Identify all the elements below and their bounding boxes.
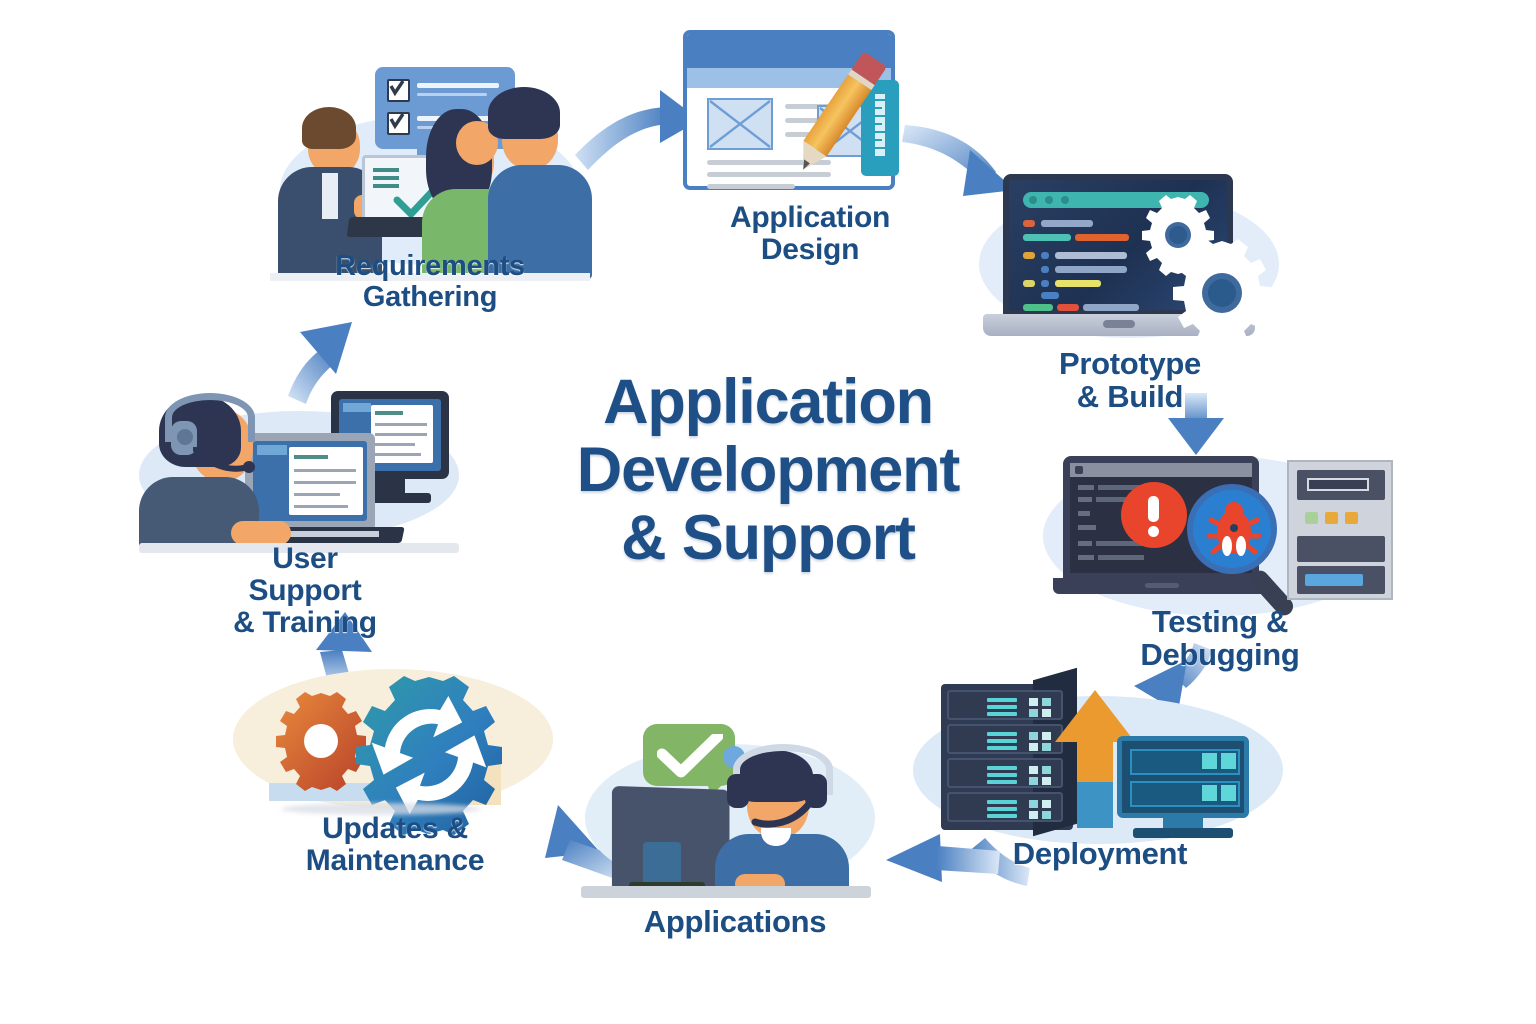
step-label-updates-maintenance: Updates & Maintenance	[306, 813, 484, 877]
step-label-deployment: Deployment	[1013, 838, 1187, 871]
step-label-prototype-build: Prototype & Build	[1053, 348, 1208, 414]
diagram-center-title: Application Development & Support	[538, 368, 998, 572]
step-label-user-support-training: User Support & Training	[220, 543, 390, 638]
step-label-requirements-gathering: Requirements Gathering	[335, 251, 525, 312]
step-application-design[interactable]: Application Design	[665, 20, 955, 265]
gear-large-icon	[1163, 234, 1281, 352]
server-rack-icon	[1287, 460, 1393, 600]
step-requirements-gathering[interactable]: Requirements Gathering	[270, 55, 590, 325]
step-prototype-build[interactable]: Prototype & Build	[975, 160, 1285, 400]
step-user-support-training[interactable]: User Support & Training	[135, 375, 475, 625]
step-testing-debugging[interactable]: Testing & Debugging	[1035, 440, 1405, 655]
step-deployment[interactable]: Deployment	[905, 660, 1295, 885]
step-applications[interactable]: Applications	[565, 710, 905, 960]
diagram-canvas: Application Development & Support	[0, 0, 1536, 1024]
monitor-icon	[1117, 736, 1249, 818]
step-label-application-design: Application Design	[730, 202, 890, 266]
step-updates-maintenance[interactable]: Updates & Maintenance	[225, 655, 565, 895]
step-label-applications: Applications	[644, 906, 826, 939]
